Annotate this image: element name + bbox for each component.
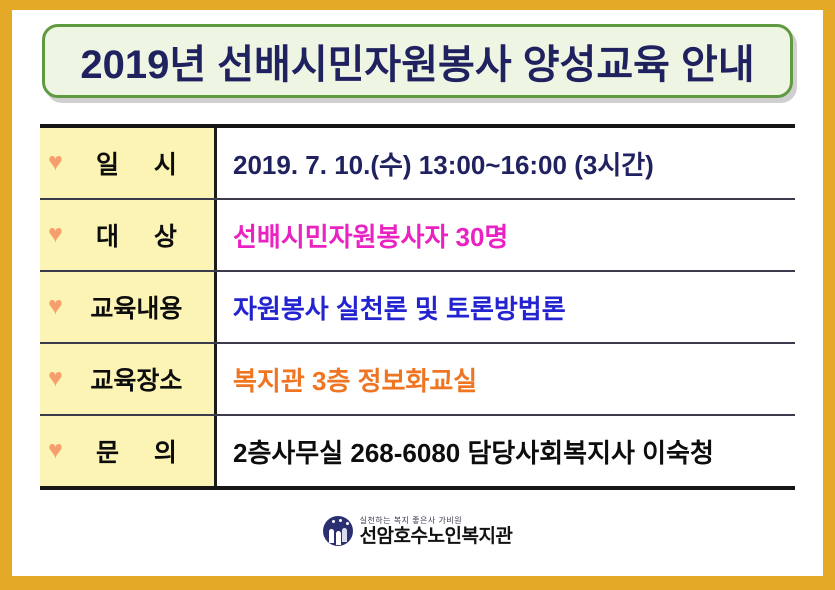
row-value-cell: 2019. 7. 10.(수) 13:00~16:00 (3시간): [217, 128, 795, 198]
row-label-cell: ♥ 대 상: [40, 200, 217, 270]
row-label-cell: ♥ 일 시: [40, 128, 217, 198]
row-label-text: 교육내용: [69, 289, 204, 325]
organization-name: 선암호수노인복지관: [360, 527, 513, 546]
heart-icon: ♥: [48, 366, 63, 391]
heart-icon: ♥: [48, 150, 63, 175]
row-value-cell: 선배시민자원봉사자 30명: [217, 200, 795, 270]
poster-frame: 2019년 선배시민자원봉사 양성교육 안내 ♥ 일 시 2019. 7. 10…: [0, 0, 835, 590]
organization-emblem-icon: [323, 516, 353, 546]
table-row: ♥ 문 의 2층사무실 268-6080 담당사회복지사 이숙청: [40, 416, 795, 486]
title-banner: 2019년 선배시민자원봉사 양성교육 안내: [40, 24, 795, 102]
footer-logo: 실천하는 복지 좋은사 가비원 선암호수노인복지관: [40, 516, 795, 546]
poster-page: 2019년 선배시민자원봉사 양성교육 안내 ♥ 일 시 2019. 7. 10…: [12, 10, 823, 576]
row-label-text: 대 상: [69, 217, 204, 253]
row-label-cell: ♥ 문 의: [40, 416, 217, 486]
row-label-text: 일 시: [69, 145, 204, 181]
table-row: ♥ 대 상 선배시민자원봉사자 30명: [40, 200, 795, 272]
table-row: ♥ 일 시 2019. 7. 10.(수) 13:00~16:00 (3시간): [40, 128, 795, 200]
table-row: ♥ 교육내용 자원봉사 실천론 및 토론방법론: [40, 272, 795, 344]
row-label-text: 문 의: [69, 433, 204, 469]
table-row: ♥ 교육장소 복지관 3층 정보화교실: [40, 344, 795, 416]
row-label-text: 교육장소: [69, 361, 204, 397]
heart-icon: ♥: [48, 438, 63, 463]
info-table: ♥ 일 시 2019. 7. 10.(수) 13:00~16:00 (3시간) …: [40, 124, 795, 490]
heart-icon: ♥: [48, 294, 63, 319]
heart-icon: ♥: [48, 222, 63, 247]
row-value-cell: 자원봉사 실천론 및 토론방법론: [217, 272, 795, 342]
logo-tagline: 실천하는 복지 좋은사 가비원: [360, 517, 513, 525]
row-label-cell: ♥ 교육내용: [40, 272, 217, 342]
row-label-cell: ♥ 교육장소: [40, 344, 217, 414]
organization-logo-text: 실천하는 복지 좋은사 가비원 선암호수노인복지관: [360, 517, 513, 546]
row-value-cell: 2층사무실 268-6080 담당사회복지사 이숙청: [217, 416, 795, 486]
page-title: 2019년 선배시민자원봉사 양성교육 안내: [80, 32, 754, 90]
row-value-cell: 복지관 3층 정보화교실: [217, 344, 795, 414]
title-box: 2019년 선배시민자원봉사 양성교육 안내: [42, 24, 793, 98]
